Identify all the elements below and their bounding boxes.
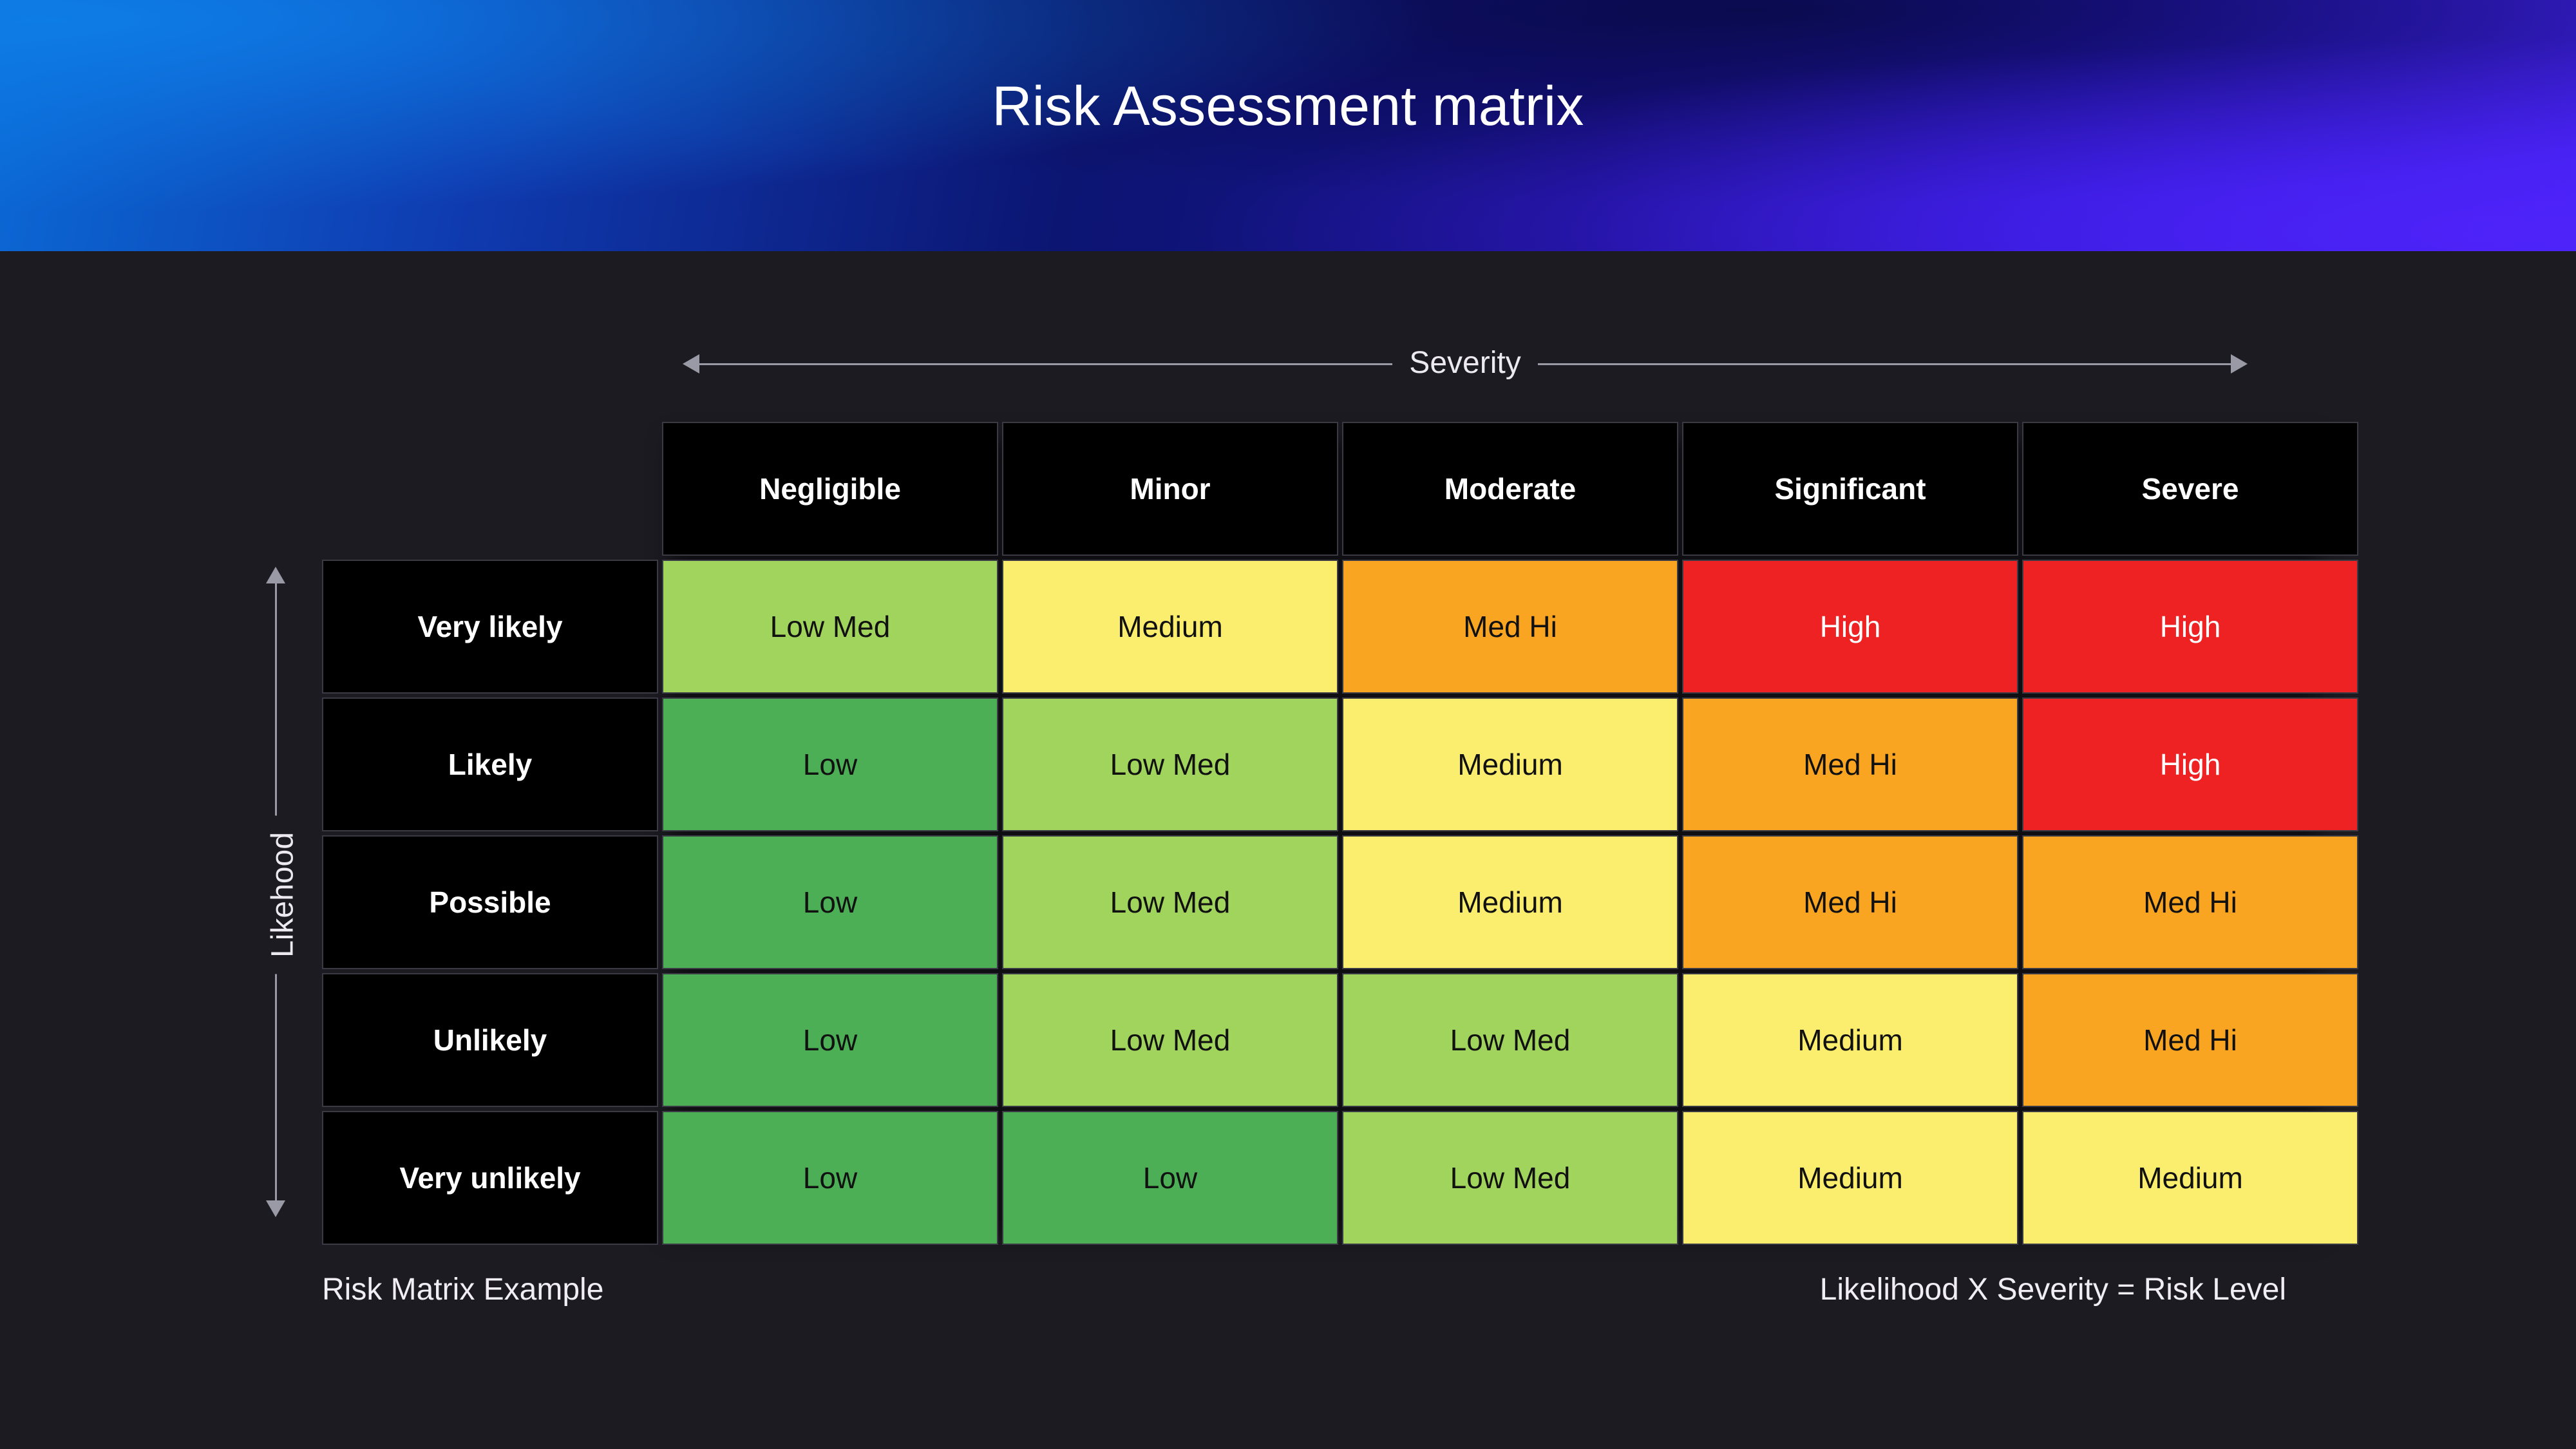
row-header-likely: Likely bbox=[322, 697, 658, 831]
severity-axis-label-text: Severity bbox=[1392, 346, 1537, 380]
likehood-axis: Likehood bbox=[263, 567, 289, 1217]
severity-axis-label: Severity bbox=[683, 345, 2248, 381]
risk-cell-possible-negligible[interactable]: Low bbox=[662, 835, 998, 969]
risk-matrix: Negligible Minor Moderate Significant Se… bbox=[322, 422, 2358, 1245]
matrix-corner-spacer bbox=[322, 422, 658, 556]
column-header-moderate: Moderate bbox=[1342, 422, 1678, 556]
page-title: Risk Assessment matrix bbox=[0, 76, 2576, 137]
risk-cell-very-unlikely-significant[interactable]: Medium bbox=[1682, 1111, 2018, 1245]
risk-cell-unlikely-moderate[interactable]: Low Med bbox=[1342, 973, 1678, 1107]
risk-cell-likely-severe[interactable]: High bbox=[2022, 697, 2358, 831]
row-header-unlikely: Unlikely bbox=[322, 973, 658, 1107]
row-header-very-likely: Very likely bbox=[322, 560, 658, 694]
risk-cell-very-unlikely-severe[interactable]: Medium bbox=[2022, 1111, 2358, 1245]
footer-captions: Risk Matrix Example Likelihood X Severit… bbox=[322, 1272, 2286, 1307]
table-row: Possible Low Low Med Medium Med Hi Med H… bbox=[322, 835, 2358, 969]
risk-cell-very-unlikely-negligible[interactable]: Low bbox=[662, 1111, 998, 1245]
risk-cell-likely-moderate[interactable]: Medium bbox=[1342, 697, 1678, 831]
risk-cell-possible-severe[interactable]: Med Hi bbox=[2022, 835, 2358, 969]
likehood-axis-label-text: Likehood bbox=[266, 815, 300, 974]
footer-right-caption: Likelihood X Severity = Risk Level bbox=[1820, 1272, 2286, 1307]
risk-cell-possible-significant[interactable]: Med Hi bbox=[1682, 835, 2018, 969]
risk-cell-very-unlikely-moderate[interactable]: Low Med bbox=[1342, 1111, 1678, 1245]
risk-cell-very-likely-minor[interactable]: Medium bbox=[1002, 560, 1338, 694]
row-header-possible: Possible bbox=[322, 835, 658, 969]
column-header-significant: Significant bbox=[1682, 422, 2018, 556]
risk-cell-very-likely-severe[interactable]: High bbox=[2022, 560, 2358, 694]
table-row: Unlikely Low Low Med Low Med Medium Med … bbox=[322, 973, 2358, 1107]
column-header-negligible: Negligible bbox=[662, 422, 998, 556]
table-row: Very likely Low Med Medium Med Hi High H… bbox=[322, 560, 2358, 694]
risk-cell-likely-significant[interactable]: Med Hi bbox=[1682, 697, 2018, 831]
table-row: Likely Low Low Med Medium Med Hi High bbox=[322, 697, 2358, 831]
risk-cell-likely-negligible[interactable]: Low bbox=[662, 697, 998, 831]
risk-cell-unlikely-significant[interactable]: Medium bbox=[1682, 973, 2018, 1107]
matrix-header-row: Negligible Minor Moderate Significant Se… bbox=[322, 422, 2358, 556]
risk-cell-possible-moderate[interactable]: Medium bbox=[1342, 835, 1678, 969]
likehood-axis-label: Likehood bbox=[265, 570, 301, 1220]
risk-cell-very-likely-moderate[interactable]: Med Hi bbox=[1342, 560, 1678, 694]
risk-cell-unlikely-negligible[interactable]: Low bbox=[662, 973, 998, 1107]
column-header-minor: Minor bbox=[1002, 422, 1338, 556]
risk-cell-very-unlikely-minor[interactable]: Low bbox=[1002, 1111, 1338, 1245]
footer-left-caption: Risk Matrix Example bbox=[322, 1272, 603, 1307]
risk-cell-unlikely-minor[interactable]: Low Med bbox=[1002, 973, 1338, 1107]
risk-cell-unlikely-severe[interactable]: Med Hi bbox=[2022, 973, 2358, 1107]
table-row: Very unlikely Low Low Low Med Medium Med… bbox=[322, 1111, 2358, 1245]
column-header-severe: Severe bbox=[2022, 422, 2358, 556]
severity-axis: Severity bbox=[683, 353, 2248, 375]
risk-cell-very-likely-significant[interactable]: High bbox=[1682, 560, 2018, 694]
risk-cell-very-likely-negligible[interactable]: Low Med bbox=[662, 560, 998, 694]
risk-cell-likely-minor[interactable]: Low Med bbox=[1002, 697, 1338, 831]
slide-canvas: Risk Assessment matrix Severity Likehood… bbox=[0, 0, 2576, 1449]
title-banner: Risk Assessment matrix bbox=[0, 0, 2576, 251]
risk-cell-possible-minor[interactable]: Low Med bbox=[1002, 835, 1338, 969]
row-header-very-unlikely: Very unlikely bbox=[322, 1111, 658, 1245]
